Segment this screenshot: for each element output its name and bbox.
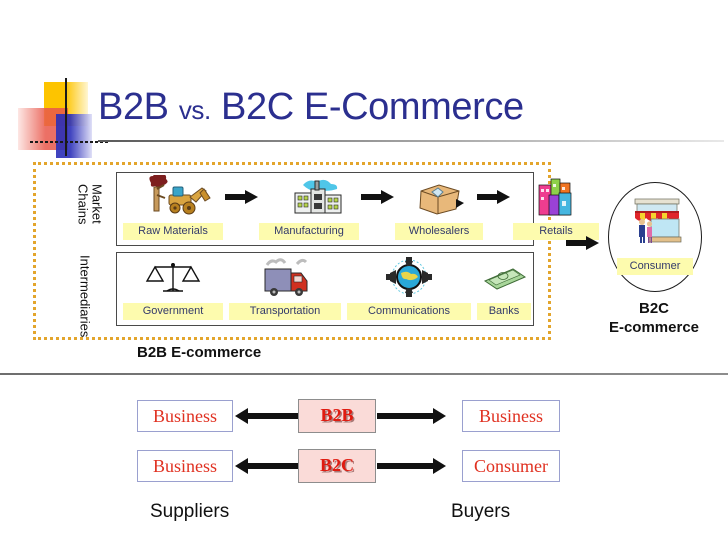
- market-chain-row: Raw Materials: [116, 172, 534, 246]
- intermediaries-row: Government Transportation: [116, 252, 534, 326]
- globe-network-icon: [345, 255, 473, 299]
- matrix-row-0-mid: B2B: [298, 399, 376, 433]
- b2c-ecommerce-caption: B2C E-commerce: [566, 300, 728, 338]
- b2c-caption-line2: E-commerce: [566, 319, 728, 338]
- logo-vertical-line: [65, 78, 67, 156]
- inter-cell-label: Banks: [477, 303, 531, 320]
- b2c-arrow: [566, 234, 600, 252]
- factory-icon: [257, 175, 361, 219]
- inter-cell-transportation: Transportation: [227, 253, 343, 325]
- footer-suppliers: Suppliers: [150, 501, 229, 523]
- slide-canvas: B2B vs. B2C E-Commerce Market Chains Int…: [0, 0, 728, 546]
- title-b2b: B2B: [98, 86, 169, 128]
- chain-cell-manufacturing: Manufacturing: [257, 173, 361, 245]
- truck-icon: [227, 255, 343, 299]
- decorative-logo: [18, 78, 108, 156]
- consumer-label: Consumer: [617, 258, 693, 275]
- matrix-row-1-right: Consumer: [462, 450, 560, 482]
- inter-cell-label: Government: [123, 303, 223, 320]
- storefront-icon: [623, 195, 687, 249]
- b2b-ecommerce-caption: B2B E-commerce: [137, 344, 261, 361]
- chain-arrow-3: [477, 189, 511, 205]
- logo-blue-square: [56, 114, 92, 158]
- title-underline: [98, 140, 724, 142]
- matrix-row-1-arrow-right: [377, 457, 449, 475]
- b2c-caption-line1: B2C: [566, 300, 728, 319]
- scales-of-justice-icon: [121, 255, 225, 299]
- footer-buyers: Buyers: [451, 501, 510, 523]
- matrix-row-1-left: Business: [137, 450, 233, 482]
- chain-arrow-2: [361, 189, 395, 205]
- chain-cell-label: Raw Materials: [123, 223, 223, 240]
- inter-cell-communications: Communications: [345, 253, 473, 325]
- package-box-icon: [393, 175, 485, 219]
- label-market-chains: Market Chains: [76, 172, 103, 236]
- chain-cell-wholesalers: Wholesalers: [393, 173, 485, 245]
- excavator-icon: [121, 175, 225, 219]
- retail-buildings-icon: [511, 175, 601, 219]
- chain-arrow-1: [225, 189, 259, 205]
- label-intermediaries: Intermediaries: [78, 248, 92, 344]
- inter-cell-banks: Banks: [475, 253, 533, 325]
- matrix-row-0-arrow-right: [377, 407, 449, 425]
- consumer-ellipse: Consumer: [608, 182, 702, 292]
- matrix-row-0-right: Business: [462, 400, 560, 432]
- chain-cell-label: Manufacturing: [259, 223, 359, 240]
- matrix-row-1-arrow-left: [232, 457, 304, 475]
- matrix-row-0-left: Business: [137, 400, 233, 432]
- matrix-row-1-mid: B2C: [298, 449, 376, 483]
- chain-cell-raw-materials: Raw Materials: [121, 173, 225, 245]
- money-cash-icon: [475, 255, 533, 299]
- chain-cell-label: Wholesalers: [395, 223, 483, 240]
- matrix-row-0-arrow-left: [232, 407, 304, 425]
- title-vs: vs.: [179, 95, 211, 125]
- inter-cell-label: Transportation: [229, 303, 341, 320]
- inter-cell-government: Government: [121, 253, 225, 325]
- title-b2c: B2C E-Commerce: [221, 86, 524, 128]
- section-divider: [0, 373, 728, 375]
- page-title: B2B vs. B2C E-Commerce: [98, 88, 524, 126]
- inter-cell-label: Communications: [347, 303, 471, 320]
